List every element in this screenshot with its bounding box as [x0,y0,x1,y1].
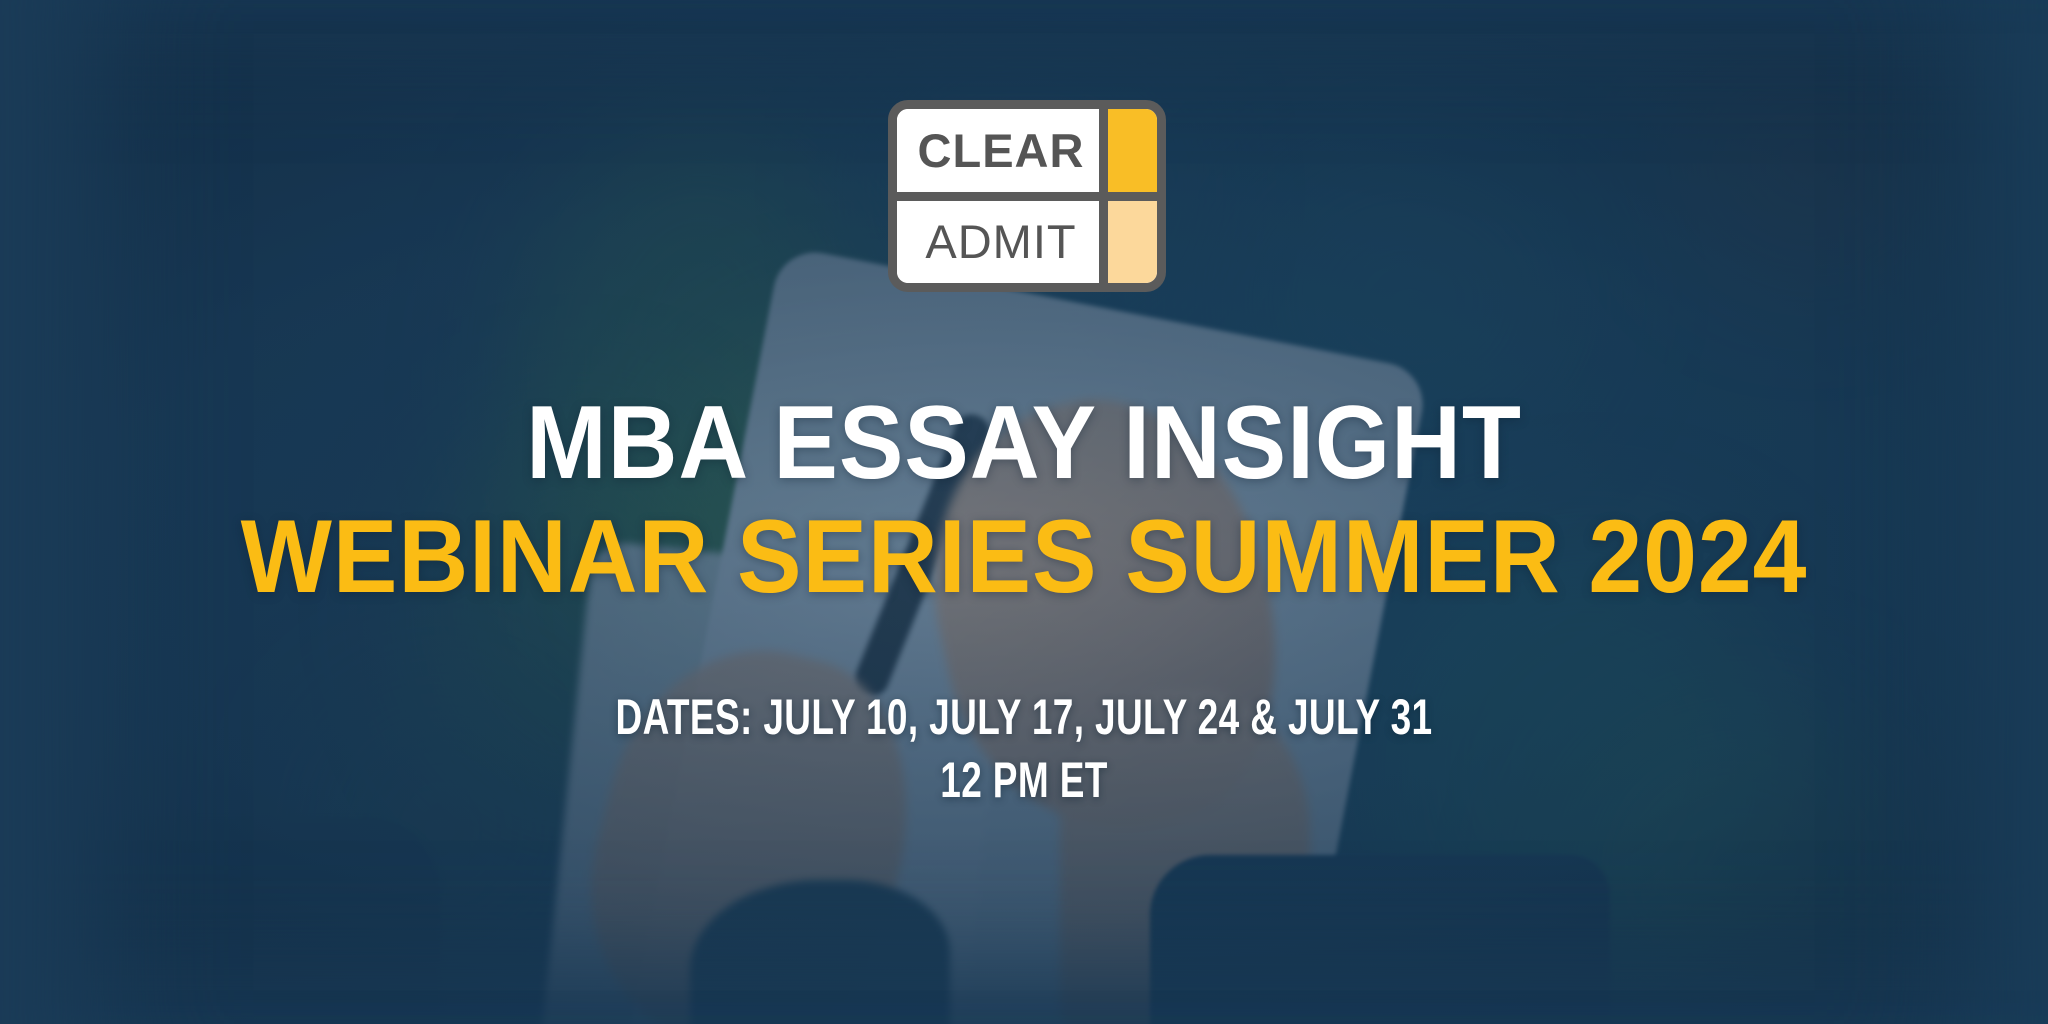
headline-primary: MBA ESSAY INSIGHT [72,390,1977,496]
logo-text-admit: ADMIT [897,201,1099,284]
event-dates: DATES: JULY 10, JULY 17, JULY 24 & JULY … [615,689,1432,745]
headline-secondary: WEBINAR SERIES SUMMER 2024 [72,504,1977,610]
promo-copy: MBA ESSAY INSIGHT WEBINAR SERIES SUMMER … [0,390,2048,812]
clear-admit-logo: CLEAR ADMIT [888,100,1166,292]
logo-row-admit: ADMIT [897,201,1157,284]
event-time: 12 PM ET [266,749,1782,812]
webinar-promo-banner: CLEAR ADMIT MBA ESSAY INSIGHT WEBINAR SE… [0,0,2048,1024]
logo-row-clear: CLEAR [897,109,1157,201]
logo-swatch-peach [1099,201,1157,284]
logo-text-clear: CLEAR [897,109,1099,192]
event-details: DATES: JULY 10, JULY 17, JULY 24 & JULY … [266,686,1782,812]
logo-swatch-amber [1099,109,1157,192]
